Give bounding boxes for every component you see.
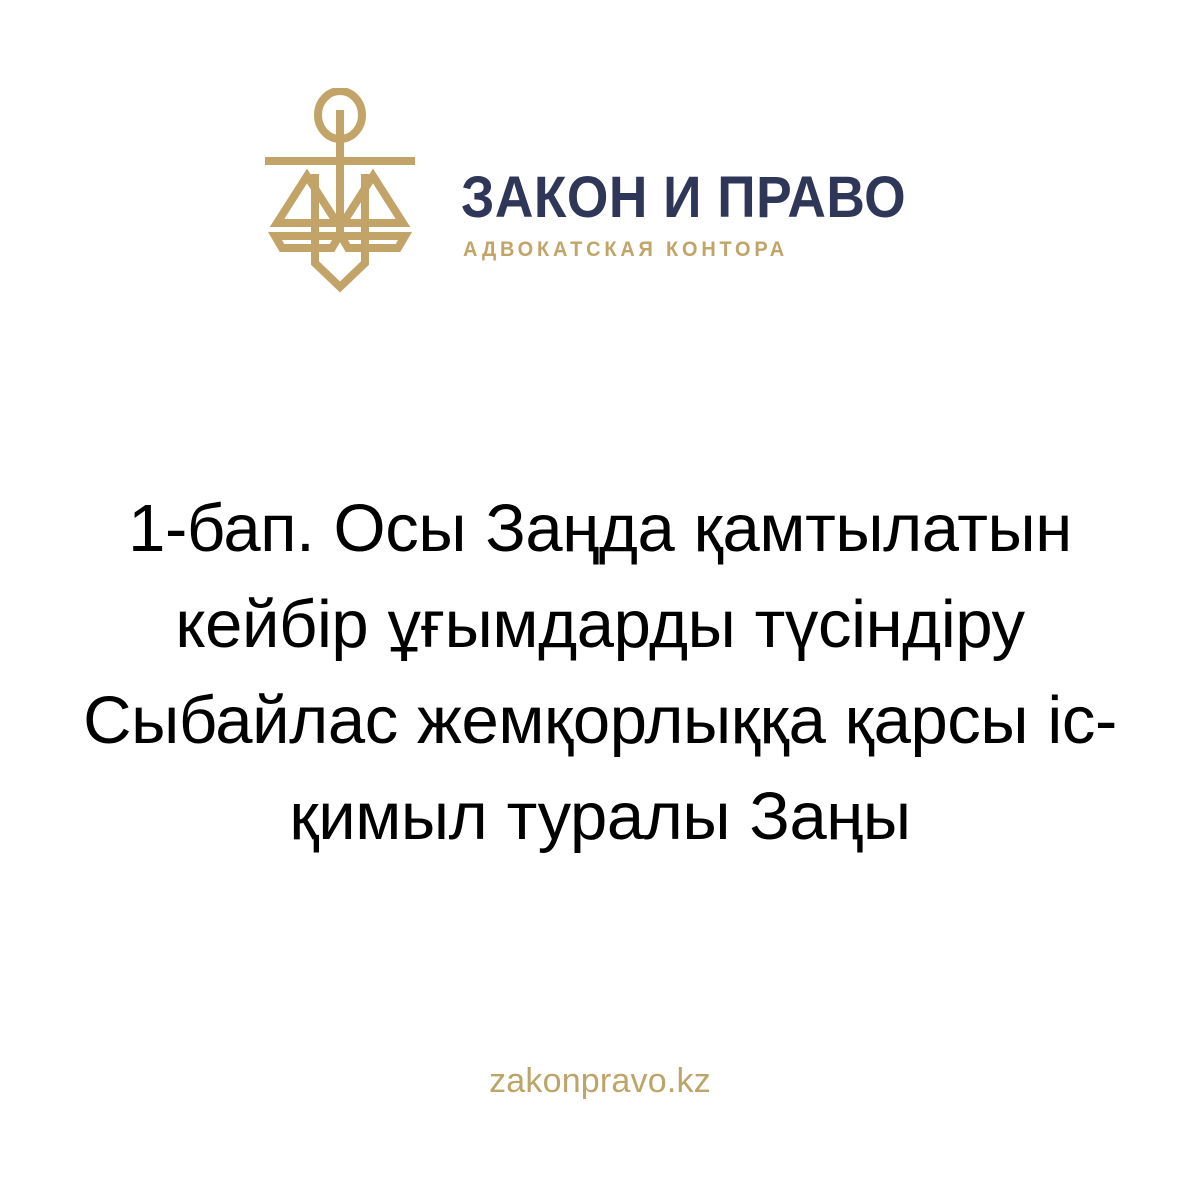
- brand-wordmark: ЗАКОН И ПРАВО АДВОКАТСКАЯ КОНТОРА: [461, 121, 945, 260]
- site-url-link[interactable]: zakonpravo.kz: [489, 1062, 711, 1100]
- brand-title: ЗАКОН И ПРАВО: [461, 169, 906, 227]
- footer: zakonpravo.kz: [0, 1060, 1200, 1102]
- poster-canvas: ЗАКОН И ПРАВО АДВОКАТСКАЯ КОНТОРА 1-бап.…: [0, 0, 1200, 1200]
- page-title: 1-бап. Осы Заңда қамтылатын кейбір ұғымд…: [48, 481, 1152, 865]
- scales-of-justice-icon: [255, 88, 425, 293]
- brand-header: ЗАКОН И ПРАВО АДВОКАТСКАЯ КОНТОРА: [0, 88, 1200, 293]
- brand-subtitle: АДВОКАТСКАЯ КОНТОРА: [463, 239, 788, 260]
